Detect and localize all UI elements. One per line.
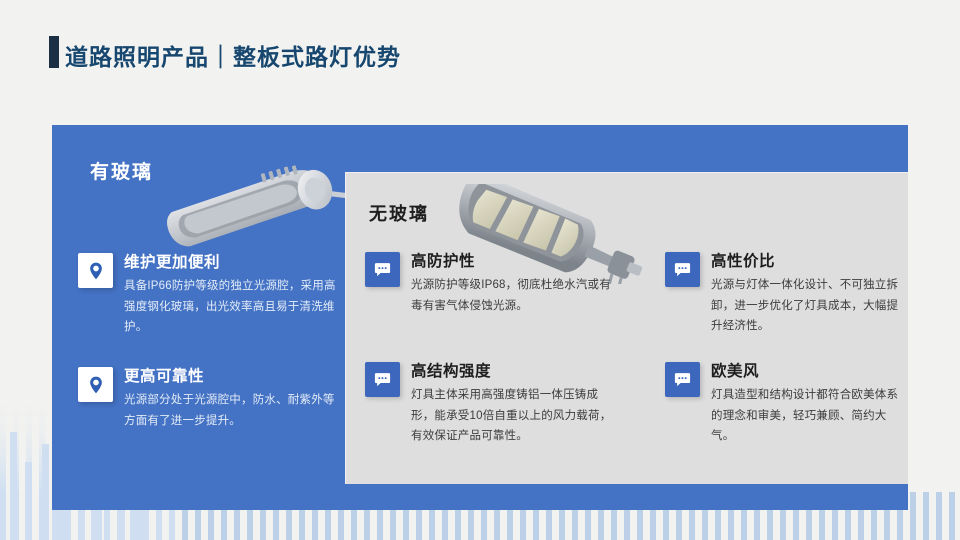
location-pin-glyph bbox=[86, 261, 106, 281]
feature-without-glass-1: 高防护性 光源防护等级IP68，彻底杜绝水汽或有毒有害气体侵蚀光源。 bbox=[365, 252, 615, 316]
feature-desc: 光源防护等级IP68，彻底杜绝水汽或有毒有害气体侵蚀光源。 bbox=[411, 275, 615, 315]
without-glass-panel: 无玻璃 bbox=[345, 172, 908, 484]
street-lamp-with-glass-image bbox=[152, 153, 372, 263]
speech-bubble-glyph bbox=[373, 260, 392, 279]
speech-bubble-icon bbox=[365, 252, 400, 287]
without-glass-heading: 无玻璃 bbox=[369, 200, 429, 226]
feature-desc: 光源与灯体一体化设计、不可独立拆卸，进一步优化了灯具成本，大幅提升经济性。 bbox=[711, 275, 900, 335]
speech-bubble-icon bbox=[665, 362, 700, 397]
feature-desc: 光源部分处于光源腔中，防水、耐紫外等方面有了进一步提升。 bbox=[124, 390, 343, 430]
speech-bubble-glyph bbox=[373, 370, 392, 389]
decor-bar-3 bbox=[42, 444, 49, 540]
feature-without-glass-4: 欧美风 灯具造型和结构设计都符合欧美体系的理念和审美，轻巧兼顾、简约大气。 bbox=[665, 362, 900, 446]
feature-desc: 具备IP66防护等级的独立光源腔，采用高强度钢化玻璃，出光效率高且易于清洗维护。 bbox=[124, 276, 343, 336]
decor-bar-1 bbox=[10, 432, 17, 540]
feature-desc: 灯具造型和结构设计都符合欧美体系的理念和审美，轻巧兼顾、简约大气。 bbox=[711, 385, 900, 445]
location-pin-glyph bbox=[86, 375, 106, 395]
feature-title: 高结构强度 bbox=[411, 362, 615, 381]
feature-title: 高性价比 bbox=[711, 252, 900, 271]
feature-title: 更高可靠性 bbox=[124, 367, 343, 386]
feature-title: 高防护性 bbox=[411, 252, 615, 271]
feature-title: 欧美风 bbox=[711, 362, 900, 381]
feature-title: 维护更加便利 bbox=[124, 253, 343, 272]
feature-desc: 灯具主体采用高强度铸铝一体压铸成形，能承受10倍自重以上的风力载荷，有效保证产品… bbox=[411, 385, 615, 445]
title-accent-bar bbox=[49, 36, 59, 68]
speech-bubble-glyph bbox=[673, 370, 692, 389]
feature-with-glass-1: 维护更加便利 具备IP66防护等级的独立光源腔，采用高强度钢化玻璃，出光效率高且… bbox=[78, 253, 343, 337]
decor-bar-2 bbox=[25, 462, 32, 540]
feature-without-glass-3: 高结构强度 灯具主体采用高强度铸铝一体压铸成形，能承受10倍自重以上的风力载荷，… bbox=[365, 362, 615, 446]
feature-without-glass-2: 高性价比 光源与灯体一体化设计、不可独立拆卸，进一步优化了灯具成本，大幅提升经济… bbox=[665, 252, 900, 336]
page-title: 道路照明产品｜整板式路灯优势 bbox=[65, 38, 401, 72]
page-header: 道路照明产品｜整板式路灯优势 bbox=[0, 0, 960, 105]
location-pin-icon bbox=[78, 367, 113, 402]
with-glass-heading: 有玻璃 bbox=[90, 157, 153, 184]
speech-bubble-icon bbox=[665, 252, 700, 287]
feature-with-glass-2: 更高可靠性 光源部分处于光源腔中，防水、耐紫外等方面有了进一步提升。 bbox=[78, 367, 343, 431]
speech-bubble-glyph bbox=[673, 260, 692, 279]
location-pin-icon bbox=[78, 253, 113, 288]
speech-bubble-icon bbox=[365, 362, 400, 397]
